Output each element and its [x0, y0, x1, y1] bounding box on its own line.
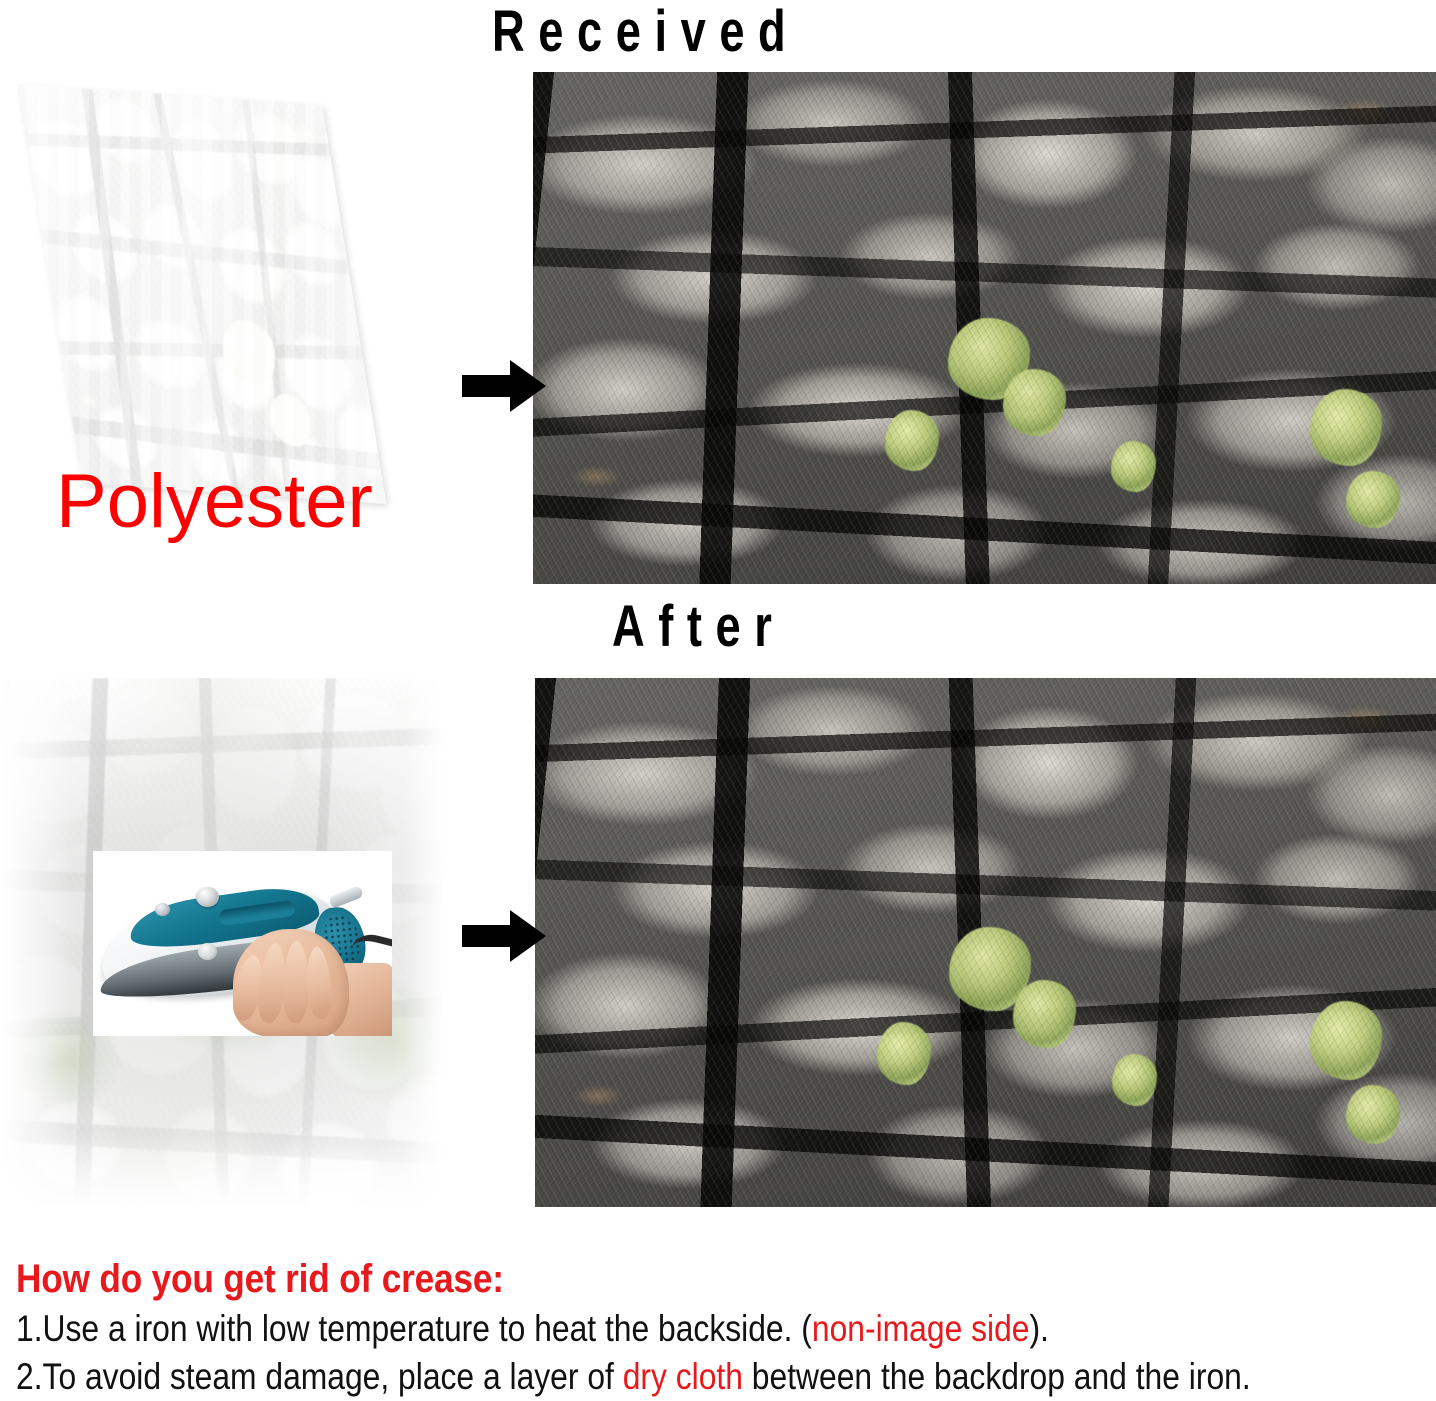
- received-section-title: Received: [492, 2, 799, 62]
- crease-instructions-heading: How do you get rid of crease:: [16, 1254, 1259, 1304]
- polyester-fabric-swatch: [18, 84, 386, 504]
- iron-spray-button: [198, 943, 217, 960]
- fabric-sheen-overlay: [18, 84, 386, 504]
- iron-and-hand-photo: [93, 851, 392, 1036]
- instruction-line-1-text-before: 1.Use a iron with low temperature to hea…: [16, 1308, 812, 1349]
- right-arrow-icon: [462, 908, 546, 964]
- foliage-sprig: [1310, 389, 1382, 466]
- care-instructions-block: How do you get rid of crease: 1.Use a ir…: [16, 1254, 1428, 1400]
- instruction-line-2-highlight: dry cloth: [623, 1356, 743, 1397]
- foliage-sprig: [877, 1022, 931, 1085]
- foliage-sprig: [1346, 1085, 1400, 1143]
- after-section-title: After: [612, 597, 785, 657]
- polyester-material-label: Polyester: [56, 462, 373, 542]
- instruction-line-2-text-before: 2.To avoid steam damage, place a layer o…: [16, 1356, 623, 1397]
- received-rock-backdrop-photo: [533, 72, 1436, 584]
- foliage-sprig: [1112, 1054, 1157, 1107]
- foliage-sprig: [1013, 980, 1076, 1049]
- foliage-sprig: [1310, 1001, 1382, 1080]
- product-instruction-graphic: Received Polyester After: [0, 0, 1436, 1401]
- iron-cord-clip: [328, 885, 364, 909]
- foliage-sprig: [1346, 471, 1400, 527]
- instruction-line-1-highlight: non-image side: [812, 1308, 1030, 1349]
- foliage-sprig: [949, 927, 1030, 1012]
- instruction-line-1-text-after: ).: [1029, 1308, 1048, 1349]
- foliage-sprig: [1003, 369, 1066, 436]
- foliage-sprig: [885, 410, 939, 471]
- instruction-line-2: 2.To avoid steam damage, place a layer o…: [16, 1354, 1230, 1400]
- iron-steam-knob: [196, 887, 219, 907]
- foliage-sprig: [1111, 441, 1156, 492]
- right-arrow-icon: [462, 358, 546, 414]
- rock-texture: [533, 72, 1436, 584]
- after-rock-backdrop-photo: [535, 678, 1436, 1207]
- iron-temperature-dial: [155, 903, 170, 916]
- instruction-line-1: 1.Use a iron with low temperature to hea…: [16, 1306, 1230, 1352]
- instruction-line-2-text-after: between the backdrop and the iron.: [743, 1356, 1251, 1397]
- foliage-sprig: [948, 318, 1029, 400]
- rock-texture: [535, 678, 1436, 1207]
